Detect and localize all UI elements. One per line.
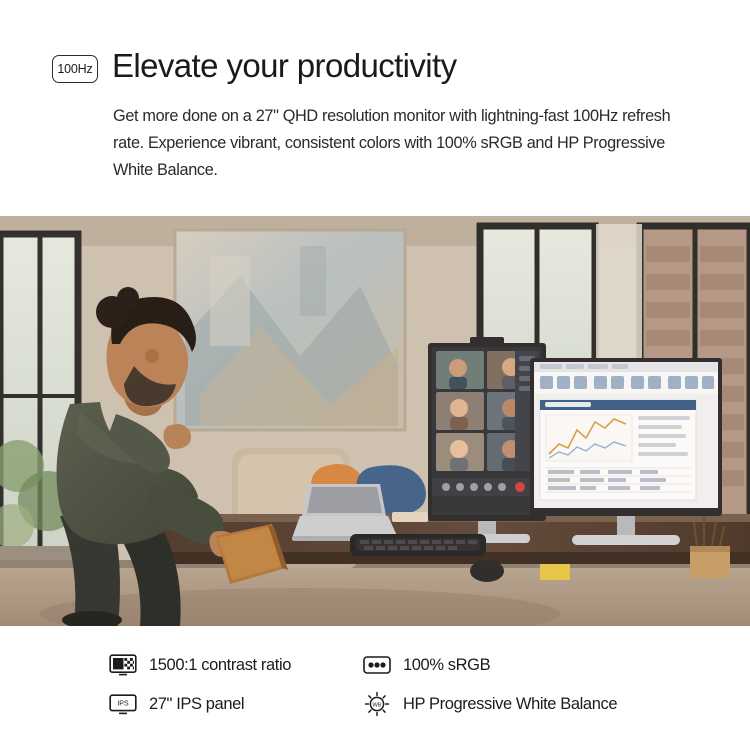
feature-contrast-ratio: 1500:1 contrast ratio (108, 653, 291, 677)
ips-panel-icon: IPS (108, 692, 138, 716)
white-balance-icon: WB (362, 692, 392, 716)
feature-ips-panel-label: 27" IPS panel (149, 695, 244, 714)
feature-srgb-label: 100% sRGB (403, 656, 490, 675)
page-subcopy: Get more done on a 27" QHD resolution mo… (113, 103, 693, 184)
refresh-rate-badge: 100Hz (52, 55, 98, 83)
contrast-ratio-icon (108, 653, 138, 677)
hero-image (0, 216, 750, 626)
svg-text:IPS: IPS (117, 701, 129, 708)
srgb-icon (362, 653, 392, 677)
refresh-rate-badge-label: 100Hz (57, 62, 92, 76)
feature-white-balance-label: HP Progressive White Balance (403, 695, 617, 714)
hero-illustration (0, 216, 750, 626)
feature-white-balance: WB HP Progressive White Balance (362, 692, 617, 716)
svg-text:WB: WB (373, 702, 382, 708)
page-title: Elevate your productivity (112, 46, 457, 86)
header-section: 100Hz Elevate your productivity Get more… (0, 0, 750, 216)
features-section: 1500:1 contrast ratio IPS 27" IPS panel (0, 626, 750, 750)
feature-ips-panel: IPS 27" IPS panel (108, 692, 244, 716)
feature-srgb: 100% sRGB (362, 653, 490, 677)
product-feature-page: 100Hz Elevate your productivity Get more… (0, 0, 750, 750)
feature-contrast-ratio-label: 1500:1 contrast ratio (149, 656, 291, 675)
